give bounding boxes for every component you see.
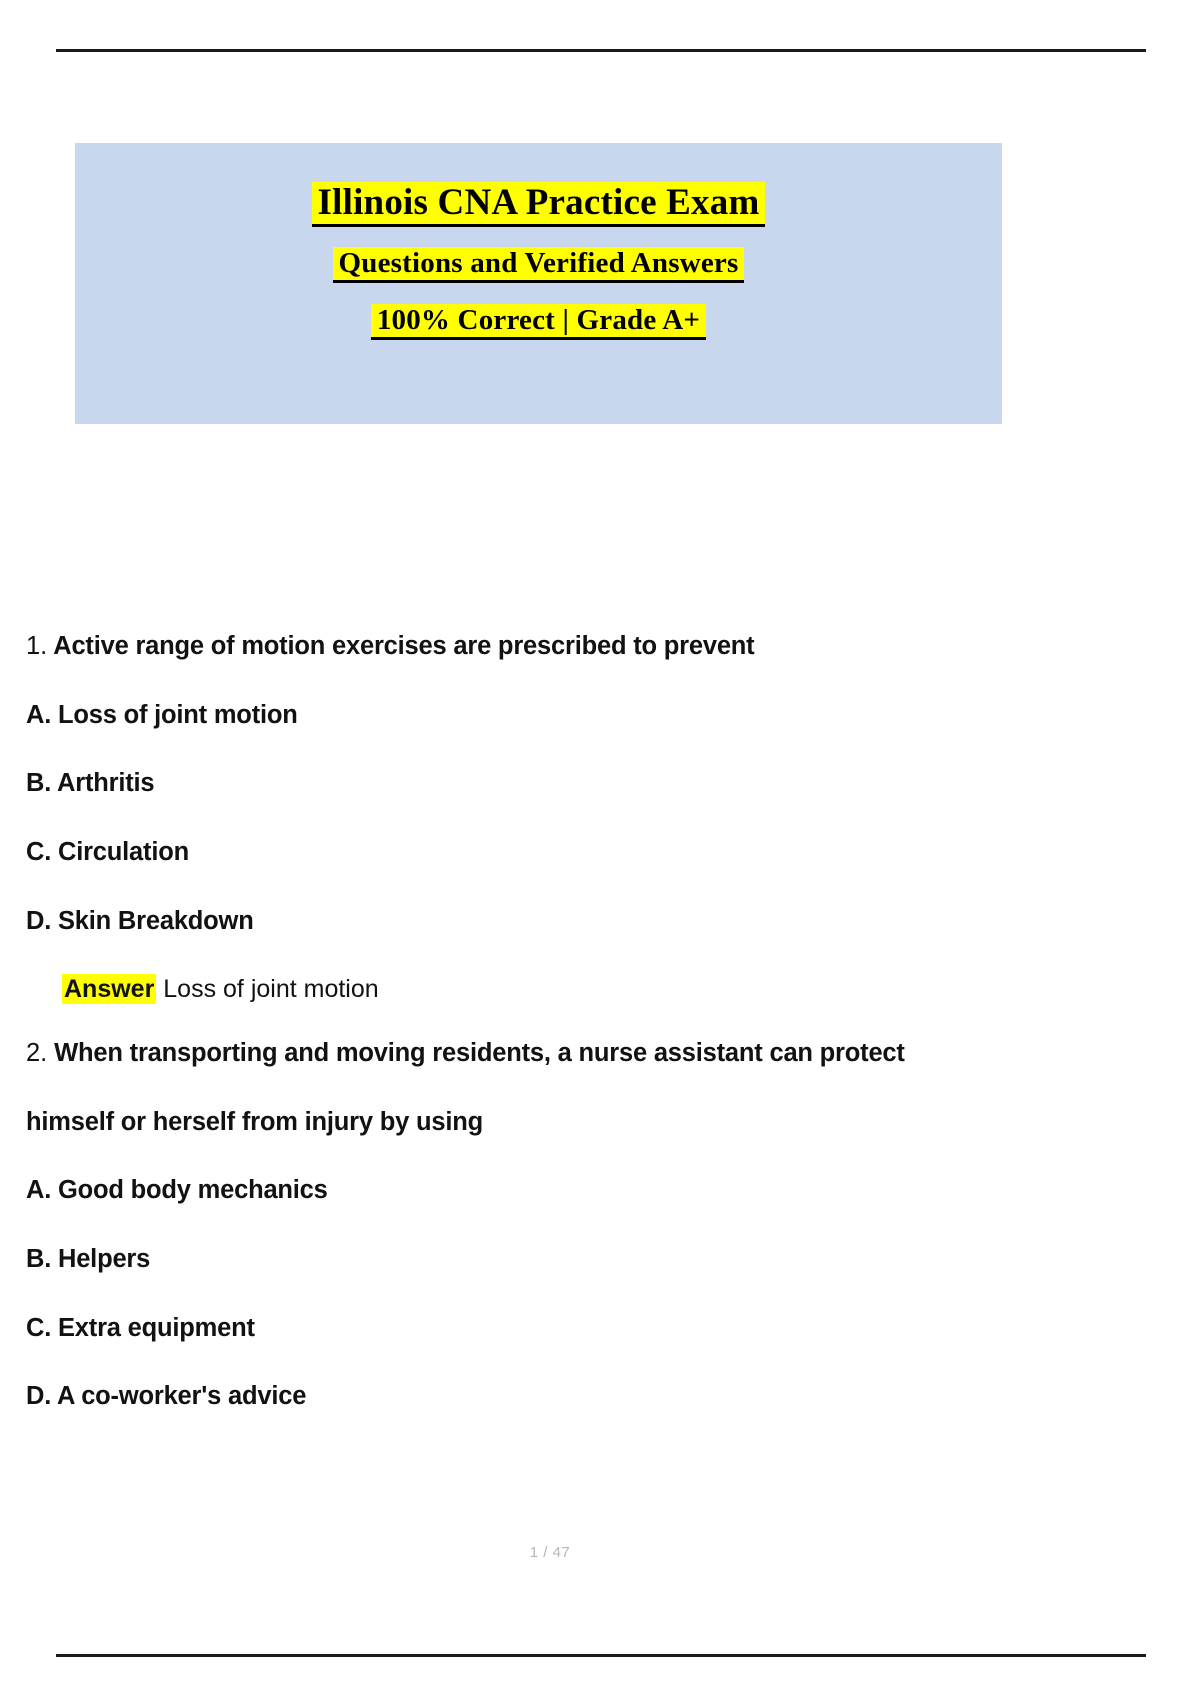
option-a[interactable]: A. Loss of joint motion [26, 699, 1086, 732]
question-continuation: himself or herself from injury by using [26, 1106, 1086, 1139]
question-number: 2. [26, 1039, 47, 1067]
questions-container: 1. Active range of motion exercises are … [26, 630, 1086, 1449]
question-block: 2. When transporting and moving resident… [26, 1037, 1086, 1413]
question-body: When transporting and moving residents, … [54, 1039, 905, 1067]
page-number-label: 1 / 47 [530, 1544, 571, 1561]
question-block: 1. Active range of motion exercises are … [26, 630, 1086, 1005]
option-b[interactable]: B. Arthritis [26, 767, 1086, 800]
option-d[interactable]: D. A co-worker's advice [26, 1380, 1086, 1413]
document-title-highlight-2: Questions and Verified Answers [333, 247, 745, 283]
answer-label: Answer [62, 974, 156, 1004]
document-title-line-3: 100% Correct | Grade A+ [75, 304, 1002, 340]
document-title-line-2: Questions and Verified Answers [75, 247, 1002, 283]
page-footer: 1 / 47 [0, 1544, 1100, 1561]
page-top-divider [56, 49, 1146, 52]
option-c[interactable]: C. Extra equipment [26, 1312, 1086, 1345]
document-title-highlight-1: Illinois CNA Practice Exam [312, 182, 766, 227]
option-a[interactable]: A. Good body mechanics [26, 1174, 1086, 1207]
option-d[interactable]: D. Skin Breakdown [26, 905, 1086, 938]
page-bottom-divider [56, 1654, 1146, 1657]
title-panel: Illinois CNA Practice Exam Questions and… [75, 143, 1002, 424]
question-number: 1. [26, 632, 47, 660]
answer-text: Loss of joint motion [163, 975, 378, 1003]
answer-line: Answer Loss of joint motion [26, 973, 1086, 1005]
option-b[interactable]: B. Helpers [26, 1243, 1086, 1276]
option-c[interactable]: C. Circulation [26, 836, 1086, 869]
question-text: 2. When transporting and moving resident… [26, 1037, 1086, 1070]
question-text: 1. Active range of motion exercises are … [26, 630, 1086, 663]
document-title-highlight-3: 100% Correct | Grade A+ [371, 304, 706, 340]
question-body: Active range of motion exercises are pre… [53, 632, 754, 660]
document-page: Illinois CNA Practice Exam Questions and… [0, 0, 1200, 1700]
document-title-line-1: Illinois CNA Practice Exam [75, 181, 1002, 227]
